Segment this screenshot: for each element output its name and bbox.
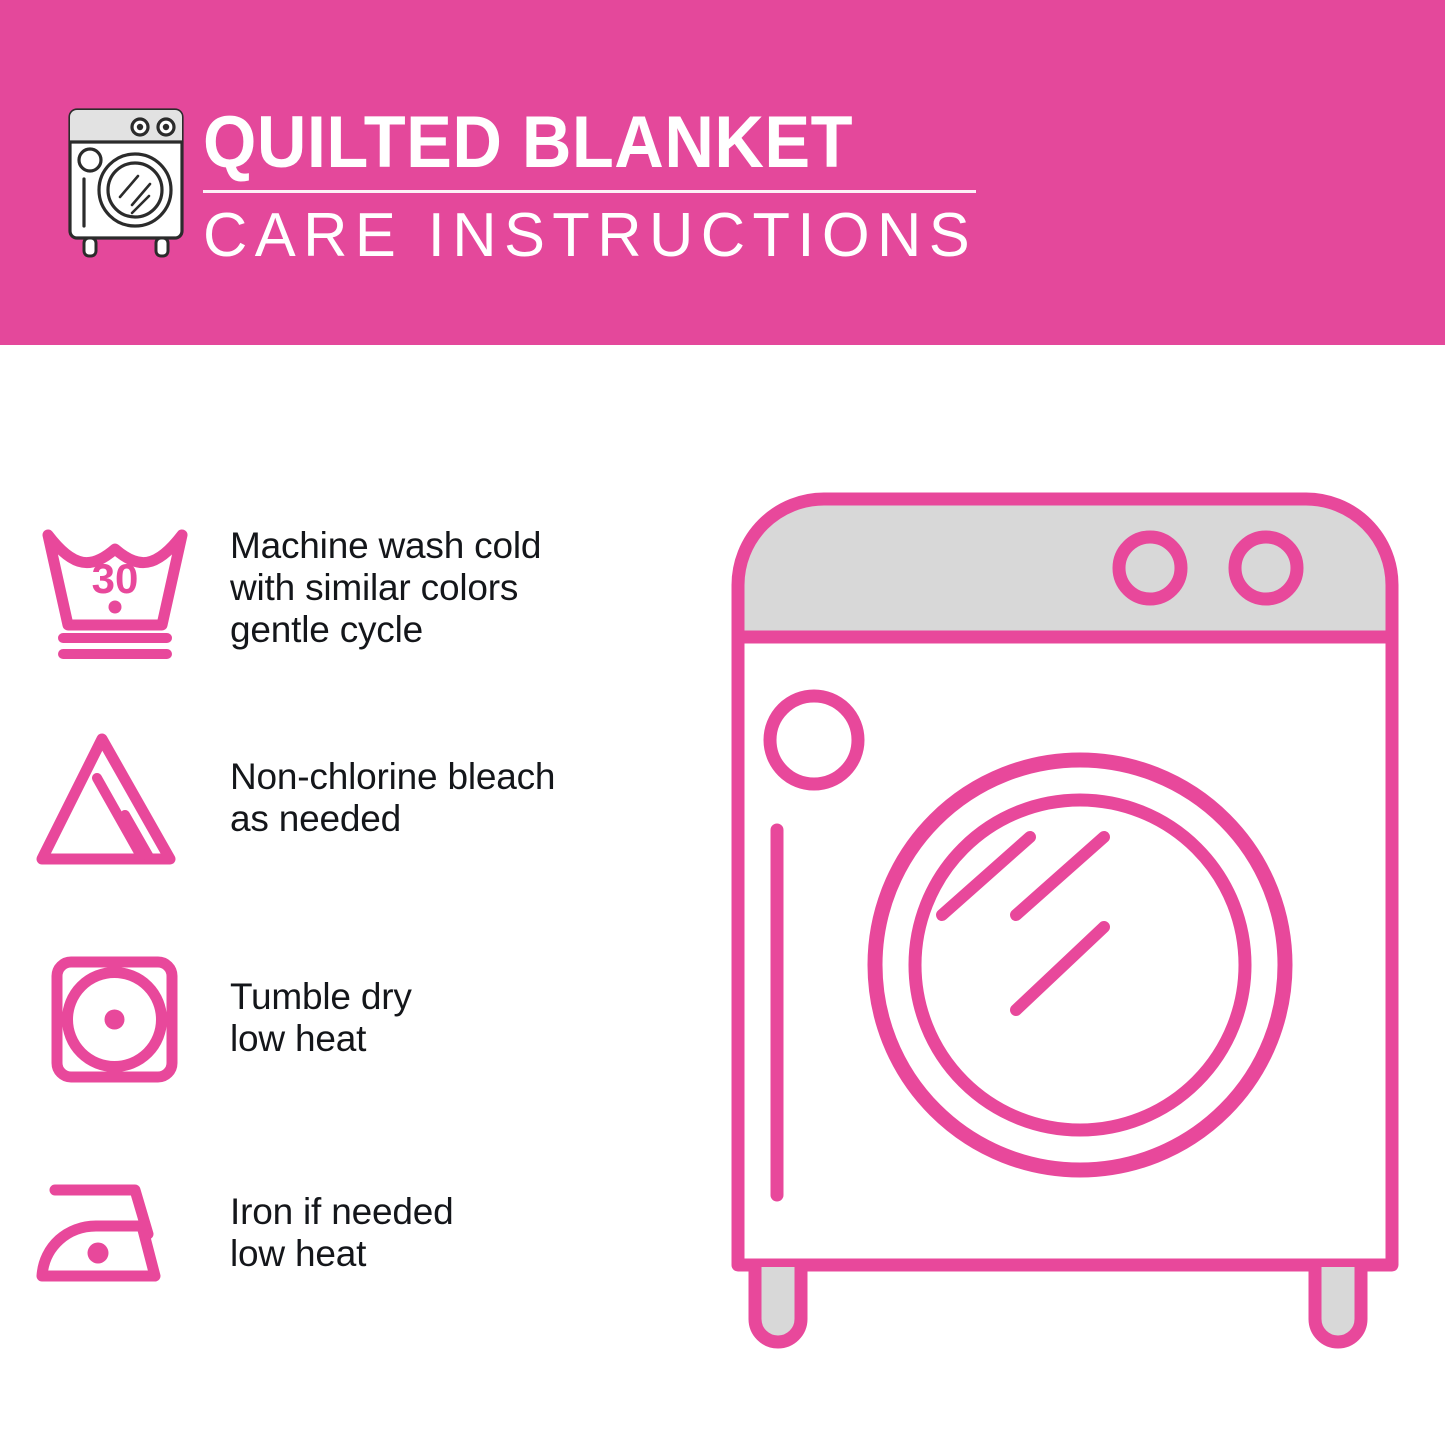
care-row: Iron if needed low heat xyxy=(0,1150,700,1315)
drum-streak xyxy=(1016,927,1104,1010)
care-row-label: Machine wash cold with similar colors ge… xyxy=(230,525,541,651)
header-banner: QUILTED BLANKET CARE INSTRUCTIONS xyxy=(0,0,1445,345)
care-label-line: Machine wash cold xyxy=(230,525,541,567)
detergent-port-circle xyxy=(770,696,858,784)
machine-leg-right xyxy=(1315,1267,1361,1342)
care-row: 30 Machine wash cold with similar colors… xyxy=(0,500,700,675)
iron-low-heat-icon xyxy=(0,1150,230,1315)
wash-tub-30-gentle-icon: 30 xyxy=(0,505,230,670)
non-chlorine-bleach-triangle-icon xyxy=(0,715,230,880)
title-divider xyxy=(203,190,976,193)
care-label-line: Tumble dry xyxy=(230,976,412,1018)
page-subtitle: CARE INSTRUCTIONS xyxy=(203,200,985,272)
care-row: Non-chlorine bleach as needed xyxy=(0,715,700,880)
care-label-line: low heat xyxy=(230,1233,453,1275)
care-row-label: Tumble dry low heat xyxy=(230,976,412,1060)
svg-text:30: 30 xyxy=(92,555,139,602)
care-label-line: with similar colors xyxy=(230,567,541,609)
care-label-line: Non-chlorine bleach xyxy=(230,756,555,798)
drum-inner-ring xyxy=(915,800,1245,1130)
drum-outer-ring xyxy=(875,760,1285,1170)
care-label-line: gentle cycle xyxy=(230,609,541,651)
care-label-line: as needed xyxy=(230,798,555,840)
front-load-washing-machine-illustration xyxy=(700,455,1430,1375)
care-row-label: Iron if needed low heat xyxy=(230,1191,453,1275)
header-text-block: QUILTED BLANKET CARE INSTRUCTIONS xyxy=(203,104,993,272)
care-instructions-page: QUILTED BLANKET CARE INSTRUCTIONS 30 Mac… xyxy=(0,0,1445,1445)
tumble-dry-low-icon xyxy=(0,935,230,1100)
drum-streak xyxy=(1016,837,1104,915)
care-row-label: Non-chlorine bleach as needed xyxy=(230,756,555,840)
care-instruction-list: 30 Machine wash cold with similar colors… xyxy=(0,345,700,1445)
machine-leg-left xyxy=(755,1267,801,1342)
care-row: Tumble dry low heat xyxy=(0,935,700,1100)
page-title: QUILTED BLANKET xyxy=(203,104,946,182)
washing-machine-icon xyxy=(56,100,196,260)
care-label-line: low heat xyxy=(230,1018,412,1060)
care-label-line: Iron if needed xyxy=(230,1191,453,1233)
